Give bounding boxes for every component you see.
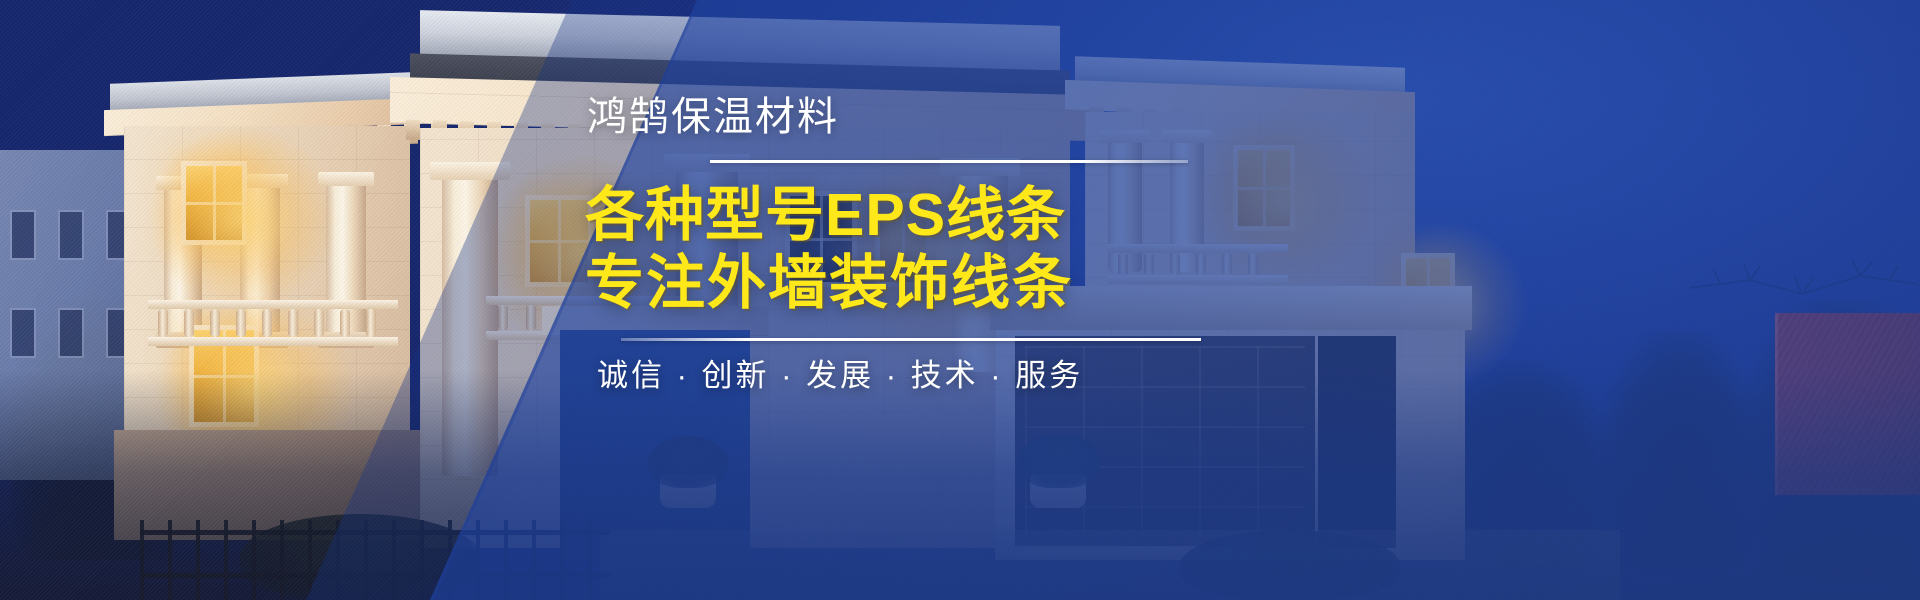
headline-line-1: 各种型号EPS线条 [585,181,1225,249]
tagline: 诚信 · 创新 · 发展 · 技术 · 服务 [597,357,1225,394]
promo-banner: 鸿鹄保温材料 各种型号EPS线条 专注外墙装饰线条 诚信 · 创新 · 发展 ·… [0,0,1920,600]
column-capital [430,162,510,180]
headline: 各种型号EPS线条 专注外墙装饰线条 [585,181,1225,318]
brand-name: 鸿鹄保温材料 [587,96,1225,138]
window-lit [530,200,588,282]
banner-text-block: 鸿鹄保温材料 各种型号EPS线条 专注外墙装饰线条 诚信 · 创新 · 发展 ·… [585,96,1225,394]
window-lit [1238,150,1290,226]
divider-bottom [621,338,1201,341]
window-lit [186,166,242,240]
divider-top [710,160,1188,163]
headline-line-2: 专注外墙装饰线条 [585,249,1225,317]
balustrade [148,300,398,346]
ground-haze [0,370,1920,600]
column-capital [318,172,374,186]
